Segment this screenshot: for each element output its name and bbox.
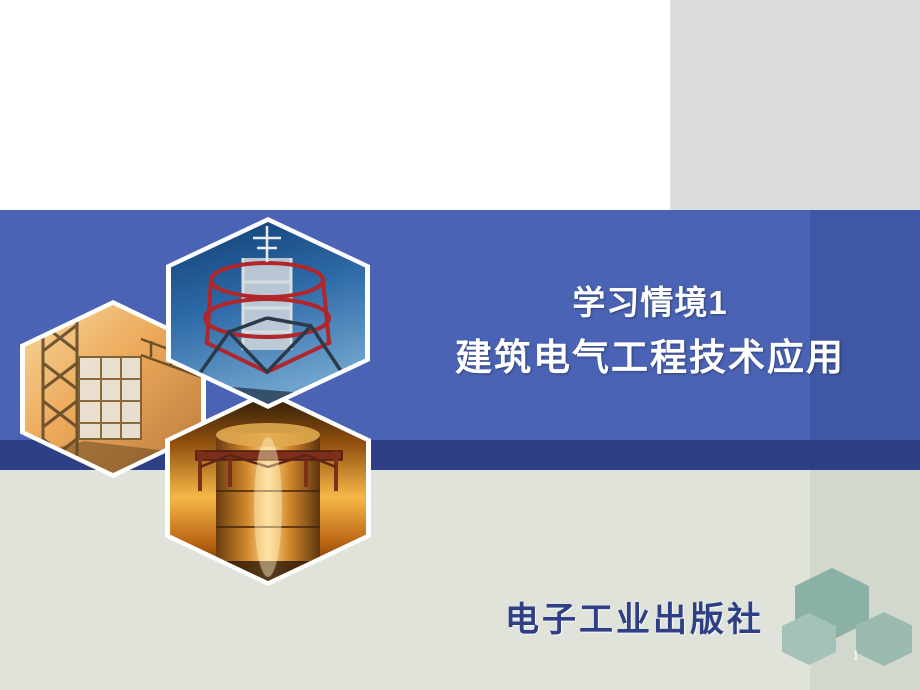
hexagon-photo-cluster <box>10 205 390 575</box>
presentation-slide: 学习情境1 建筑电气工程技术应用 电子工业出版社 1 <box>0 0 920 690</box>
top-right-grey-band <box>670 0 920 210</box>
page-number: 1 <box>852 648 860 665</box>
publisher-name: 电子工业出版社 <box>505 592 764 641</box>
slide-title-line-1: 学习情境1 <box>390 280 910 326</box>
slide-title-line-2: 建筑电气工程技术应用 <box>390 332 910 384</box>
slide-title-block: 学习情境1 建筑电气工程技术应用 <box>390 280 910 384</box>
